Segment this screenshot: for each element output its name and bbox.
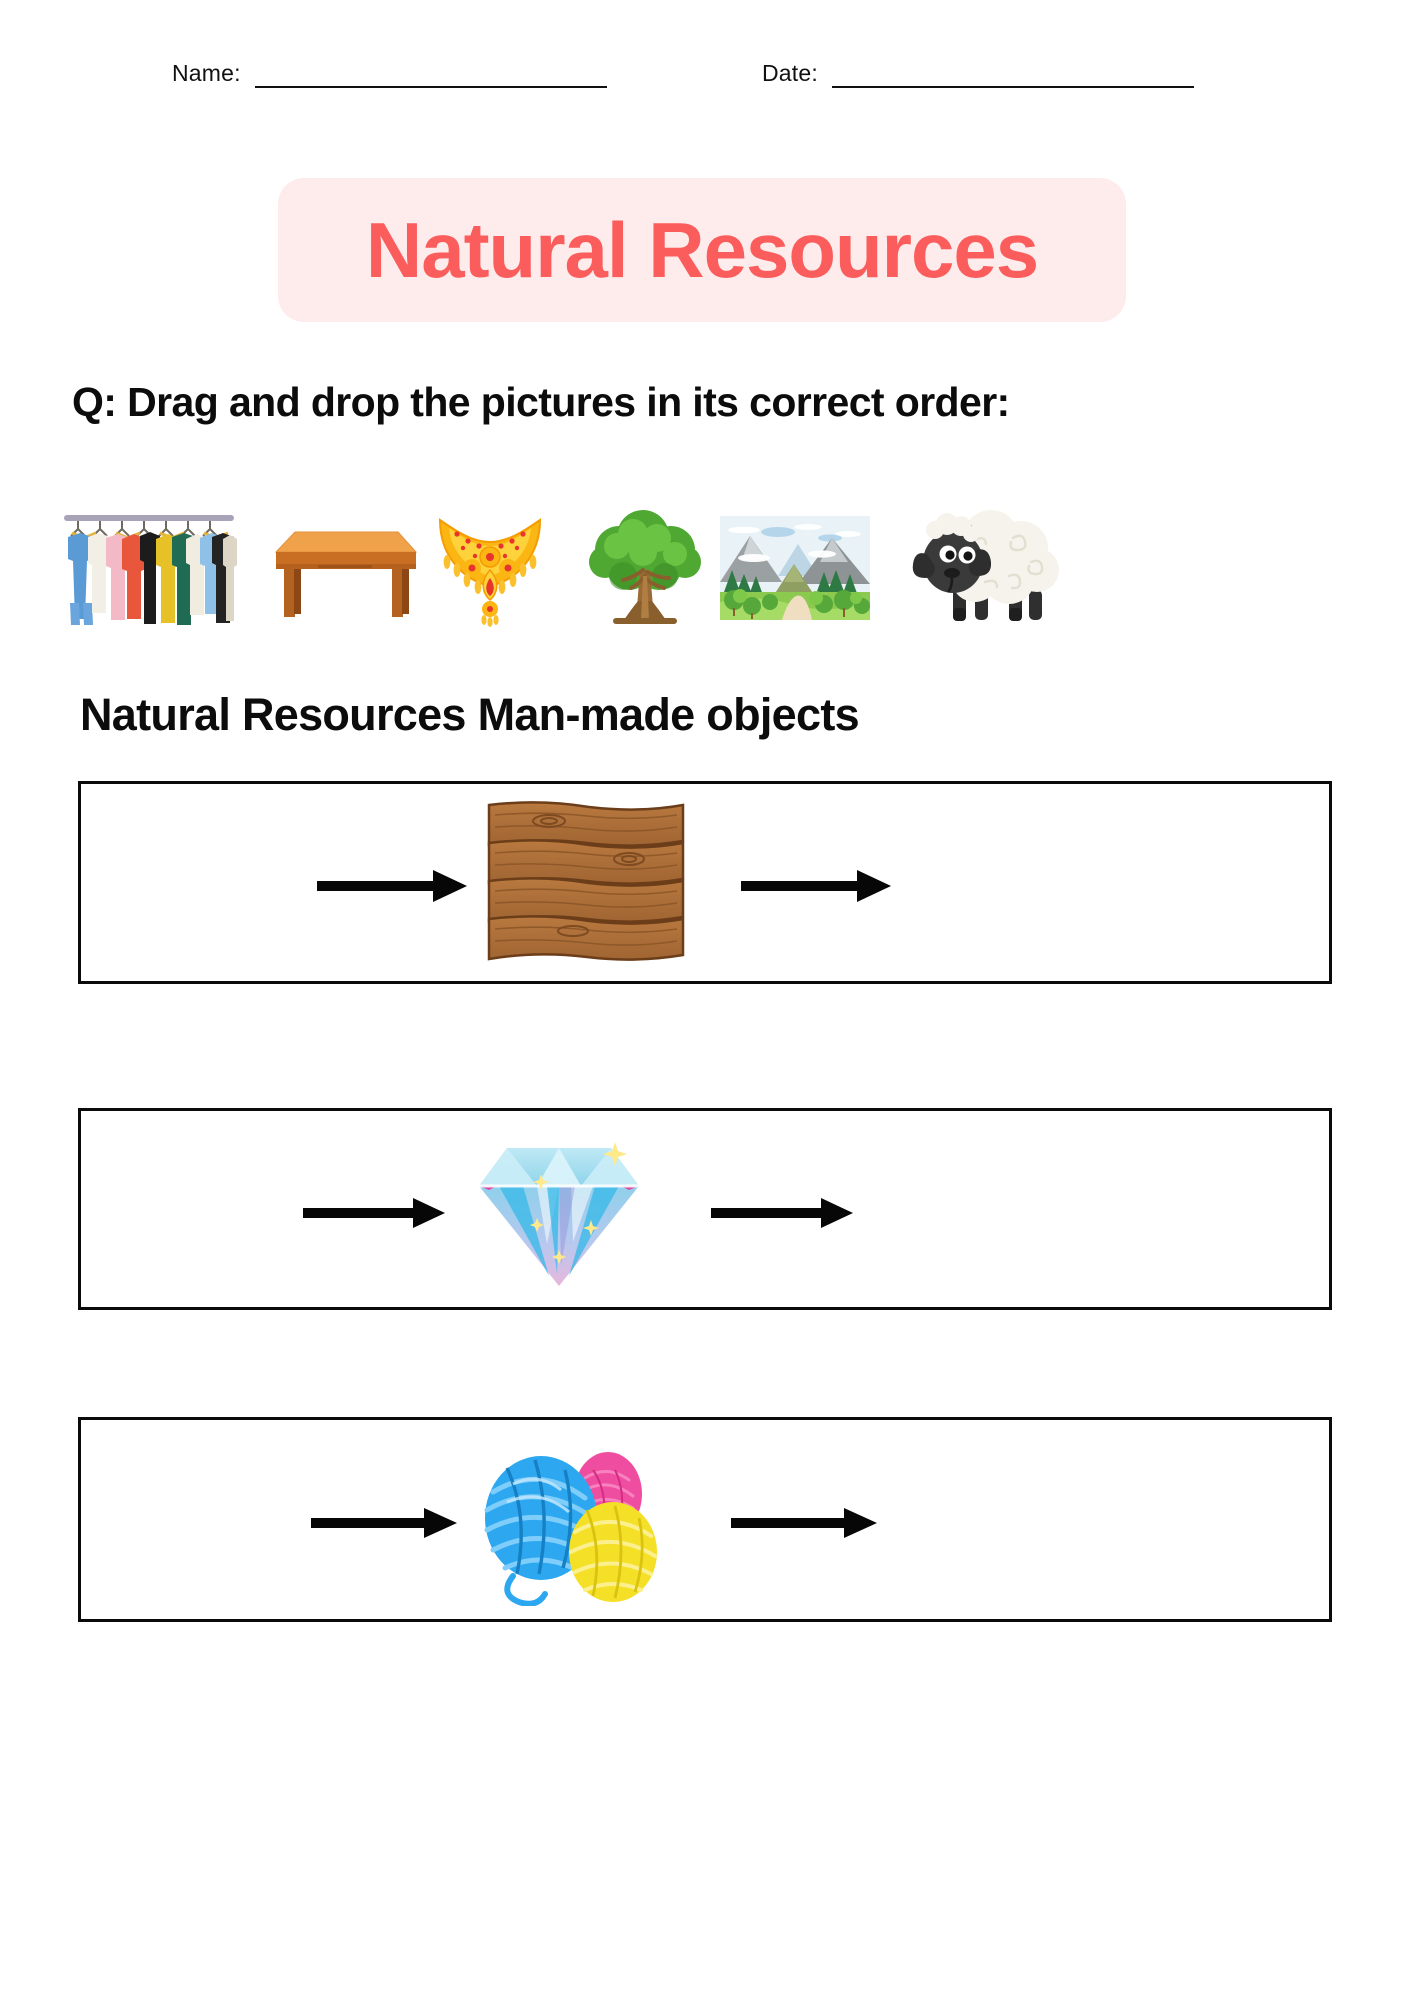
date-input-line[interactable]: [832, 86, 1194, 88]
arrow-right-icon: [311, 1506, 459, 1540]
worksheet-page: Name: Date: Natural Resources Q: Drag an…: [0, 0, 1414, 2000]
name-input-line[interactable]: [255, 86, 607, 88]
arrow-right-icon: [741, 868, 893, 904]
wooden-planks-image[interactable]: [483, 799, 688, 961]
sheep-image[interactable]: [905, 504, 1060, 626]
date-field-group: Date:: [762, 62, 1194, 88]
answer-row-wood[interactable]: [78, 781, 1332, 984]
yarn-balls-image[interactable]: [473, 1434, 673, 1606]
arrow-right-icon: [317, 868, 469, 904]
answer-row-diamond[interactable]: [78, 1108, 1332, 1310]
name-field-group: Name:: [172, 62, 607, 88]
arrow-right-icon: [711, 1196, 855, 1230]
clothes-rack-image[interactable]: [60, 503, 238, 628]
gold-necklace-image[interactable]: [435, 508, 545, 628]
page-title: Natural Resources: [366, 211, 1038, 289]
name-label: Name:: [172, 62, 241, 88]
section-heading: Natural Resources Man-made objects: [80, 690, 1380, 740]
tree-image[interactable]: [585, 506, 705, 628]
name-date-header: Name: Date:: [0, 62, 1414, 112]
arrow-right-icon: [731, 1506, 879, 1540]
mountain-landscape-image[interactable]: [720, 516, 870, 620]
question-text: Q: Drag and drop the pictures in its cor…: [72, 380, 1372, 425]
answer-row-yarn[interactable]: [78, 1417, 1332, 1622]
picture-strip: [60, 478, 1370, 628]
wooden-table-image[interactable]: [270, 510, 420, 618]
arrow-right-icon: [303, 1196, 447, 1230]
title-banner: Natural Resources: [278, 178, 1126, 322]
date-label: Date:: [762, 62, 818, 88]
diamond-image[interactable]: [469, 1124, 649, 1296]
